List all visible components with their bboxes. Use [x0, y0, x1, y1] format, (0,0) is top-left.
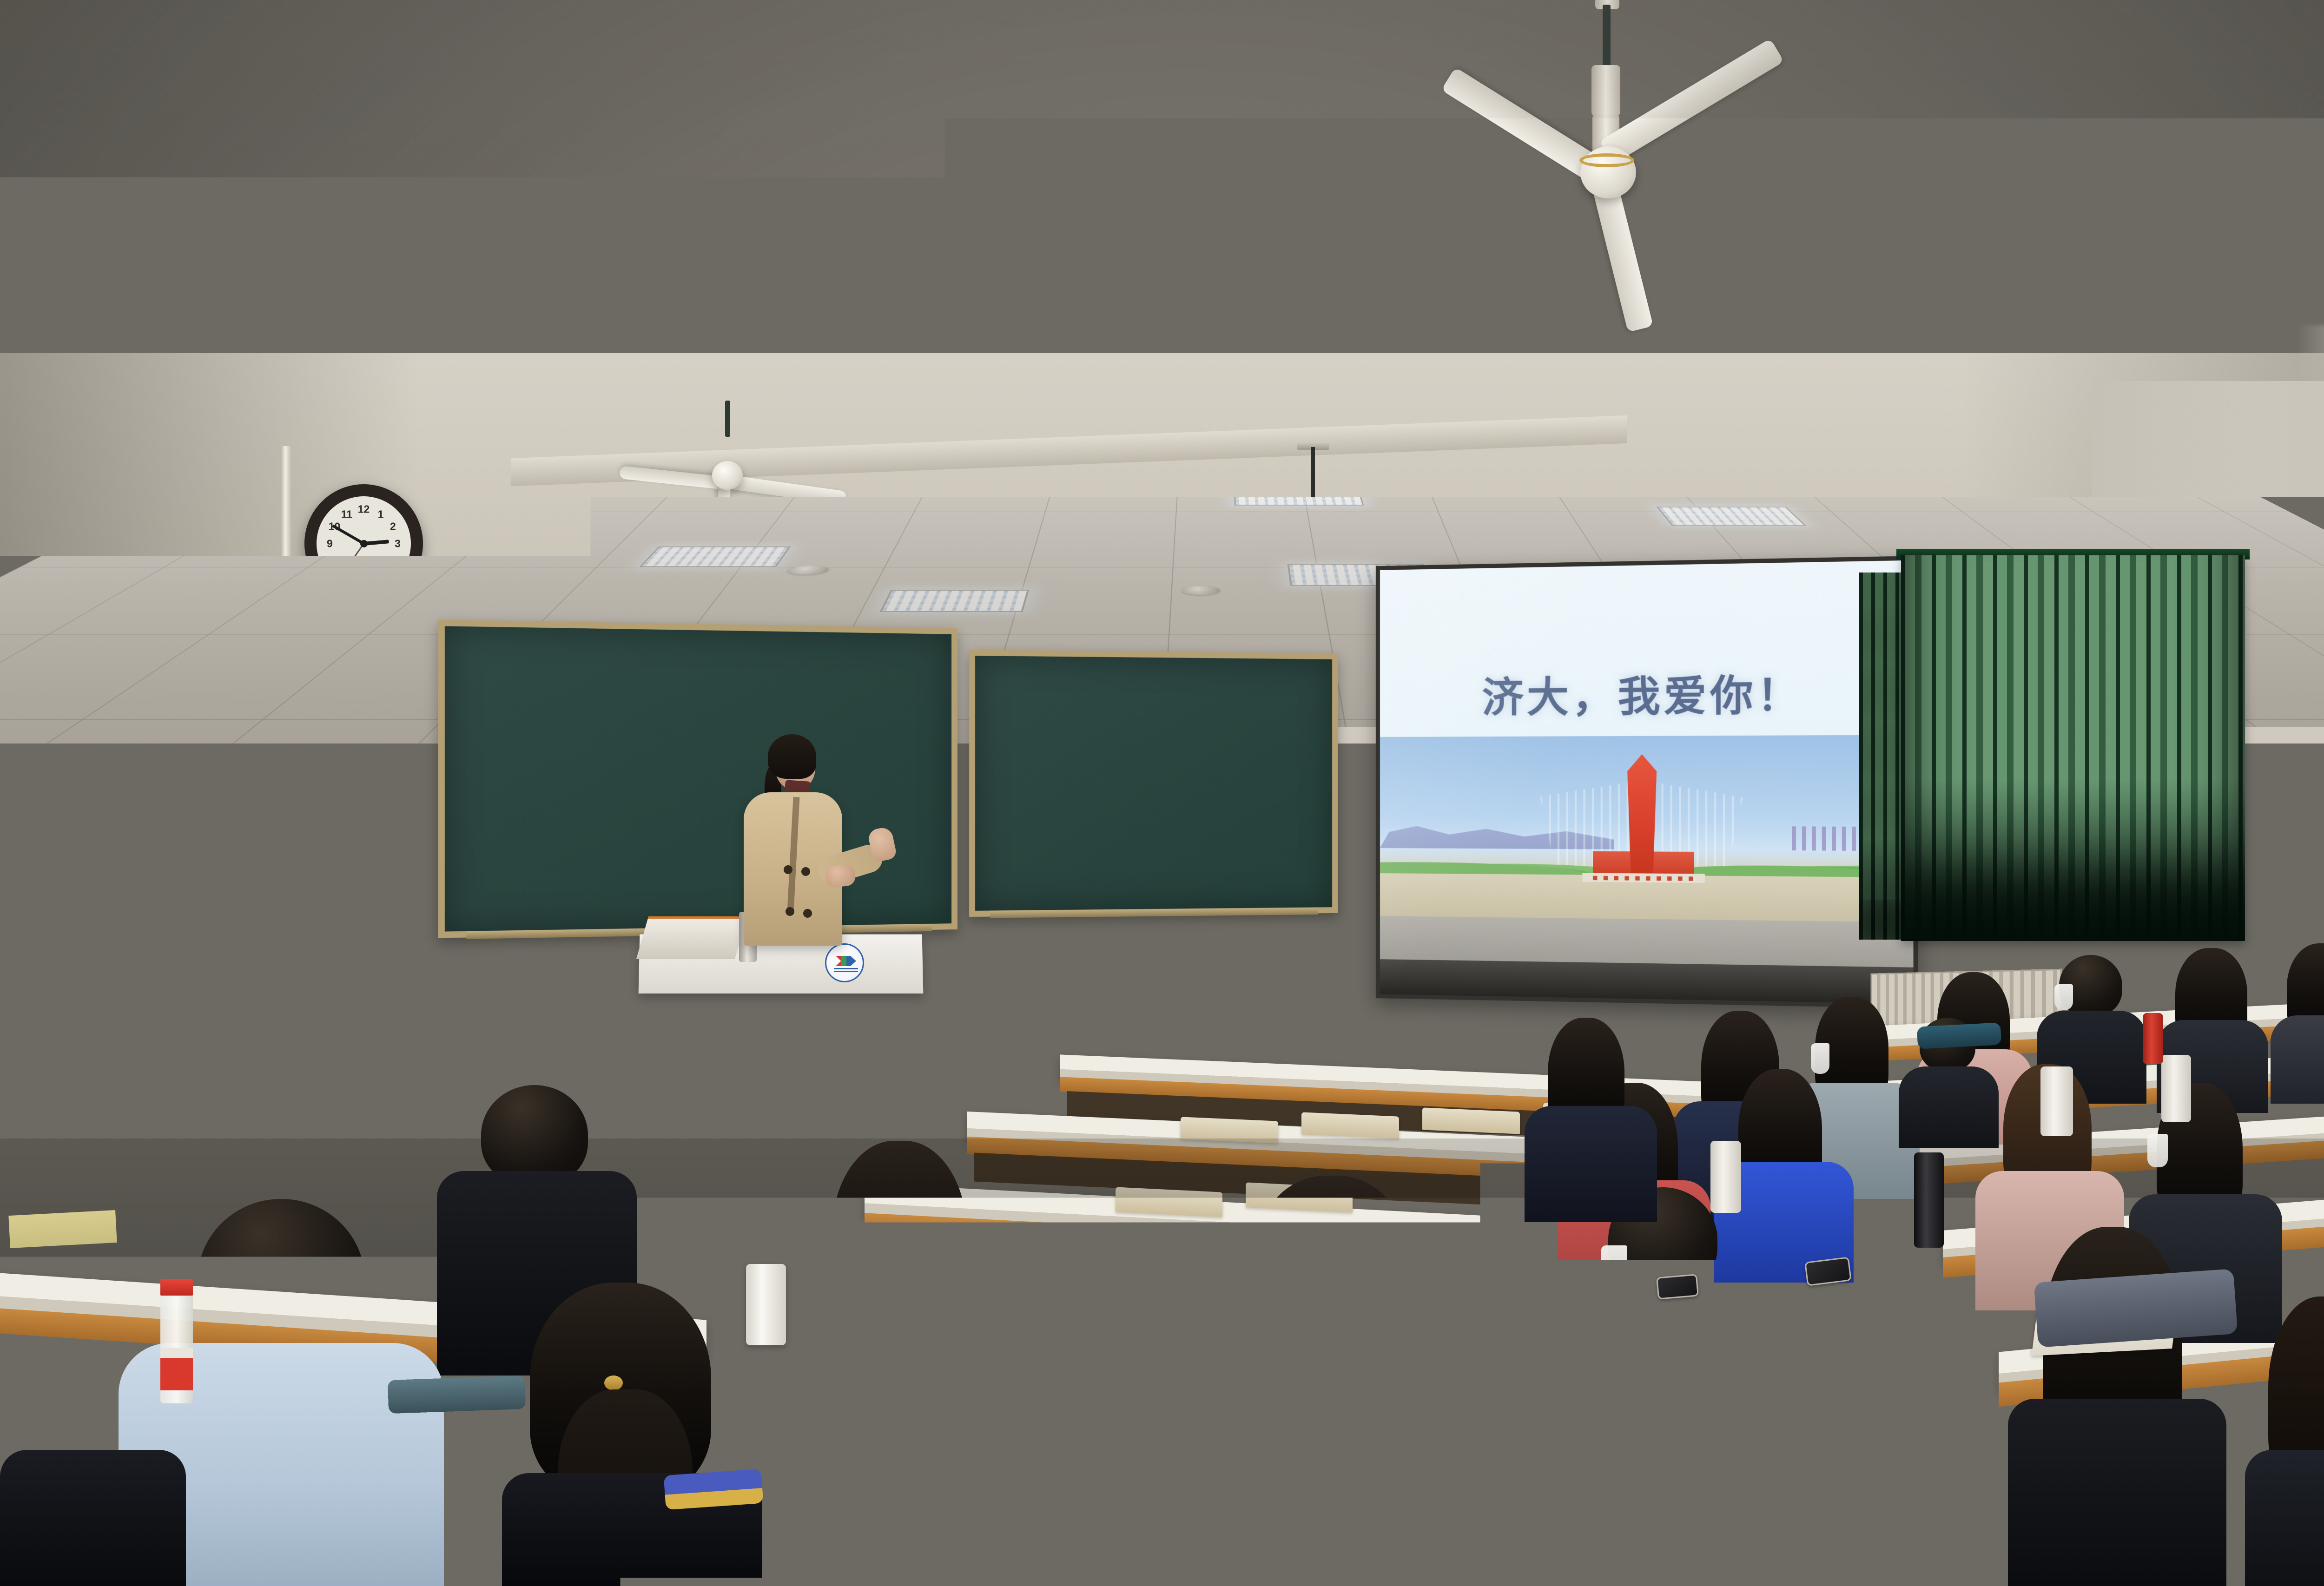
clock-numeral: 4 — [390, 554, 396, 567]
wall-clock: 12 1 2 3 4 5 6 7 8 9 10 11 — [304, 484, 423, 603]
right-chalkboard — [969, 650, 1338, 917]
white-thermos-flask — [2161, 1055, 2191, 1122]
clock-numeral: 8 — [331, 554, 337, 567]
slide-title-text: 济大，我爱你！ — [1380, 660, 1914, 724]
fan-gold-band — [1579, 153, 1634, 167]
photo-plinth-text — [1593, 876, 1694, 881]
presentation-slide: 济大，我爱你！ — [1380, 560, 1914, 976]
student-torso — [734, 1464, 1041, 1586]
fan-rod-sleeve — [1591, 65, 1620, 116]
notice-text-line — [80, 736, 170, 738]
student-torso — [2245, 1450, 2324, 1586]
grey-jacket-on-desk — [2034, 1269, 2238, 1348]
wooden-chair-slat — [621, 1115, 648, 1125]
face-mask-icon — [334, 1276, 366, 1341]
podium-laptop[interactable] — [636, 916, 747, 959]
fan-down-rod-secondary — [725, 401, 730, 437]
wooden-chair-slat — [621, 1085, 648, 1095]
bottle-cap-icon — [160, 1279, 193, 1296]
photo-red-monument — [1627, 754, 1657, 875]
wall-pipe — [281, 446, 291, 1190]
fan-blade — [1599, 39, 1784, 165]
coat-button — [786, 907, 794, 916]
notice-text-line — [80, 725, 165, 727]
notice-footer-graphic — [92, 796, 161, 808]
bench-seat-back — [1116, 1187, 1222, 1217]
white-thermos-flask — [1710, 1141, 1741, 1213]
pencil-case-teal — [388, 1375, 526, 1414]
clock-minute-hand — [331, 524, 364, 545]
window-curtain[interactable] — [1901, 555, 2245, 941]
notice-text-line — [80, 680, 166, 683]
white-paper-sheet — [8, 1210, 117, 1248]
wall-utility-box — [203, 704, 258, 756]
wall-notice-poster: 教室管理规定 — [71, 658, 182, 816]
lecturer-hair — [768, 734, 816, 779]
hair-tie-icon — [1335, 1276, 1352, 1290]
microphone-rod — [1311, 447, 1315, 530]
smartphone[interactable] — [1656, 1274, 1699, 1299]
projection-screen[interactable]: 济大，我爱你！ — [1376, 556, 1918, 1008]
student-puffer-jacket — [1190, 1345, 1487, 1586]
clock-face: 12 1 2 3 4 5 6 7 8 9 10 11 — [317, 496, 411, 591]
clock-numeral: 5 — [378, 566, 384, 579]
notice-text-line — [80, 714, 123, 716]
slide-campus-photo — [1380, 735, 1914, 922]
bench-seat-back — [1301, 1112, 1399, 1138]
puffer-seam — [1190, 1450, 1487, 1452]
university-crest-icon — [825, 943, 864, 982]
student-hair — [1255, 1176, 1408, 1348]
bottle-label — [160, 1348, 193, 1390]
white-tote-bag — [1794, 1338, 1929, 1415]
left-chalkboard — [438, 619, 957, 938]
clock-numeral: 12 — [358, 503, 370, 516]
wall-socket — [1162, 958, 1191, 994]
notice-title: 教室管理规定 — [78, 666, 175, 676]
notice-text-line — [80, 730, 134, 733]
coat-button — [803, 909, 812, 918]
notice-text-line — [80, 719, 168, 722]
white-thermos-flask — [746, 1264, 786, 1345]
notice-text-line — [80, 708, 157, 711]
coat-button — [784, 865, 792, 874]
notice-text-line — [80, 742, 161, 744]
fan-down-rod — [1603, 5, 1611, 70]
student-torso — [1525, 1106, 1657, 1222]
hair-tie-icon — [604, 1375, 623, 1390]
pencil-case-blue-gold — [664, 1469, 764, 1510]
clock-numeral: 3 — [395, 537, 401, 550]
pencil-case-navy-right — [1917, 1022, 2001, 1049]
classroom-scene: 12 1 2 3 4 5 6 7 8 9 10 11 教室管理规定 — [0, 0, 2324, 1586]
notice-text-line — [80, 697, 169, 699]
podium-control-panel[interactable] — [761, 1001, 914, 1155]
fan-blade — [1591, 177, 1653, 332]
student-torso — [2008, 1399, 2226, 1586]
student-torso — [2271, 1015, 2324, 1104]
coat-button — [801, 867, 810, 876]
student-torso — [0, 1450, 186, 1586]
clock-numeral: 6 — [361, 571, 367, 584]
bench-seat-back — [1181, 1117, 1278, 1143]
face-mask-icon — [1811, 1043, 1829, 1074]
red-thermos-flask — [2143, 1013, 2163, 1064]
clock-numeral: 9 — [327, 537, 333, 550]
student-head — [1655, 1501, 1808, 1586]
student-torso — [1899, 1066, 1999, 1148]
clock-center-cap — [360, 540, 368, 547]
face-mask-icon — [2147, 1134, 2168, 1167]
podium-small-switch[interactable] — [681, 1028, 694, 1052]
face-mask-icon — [2054, 984, 2073, 1010]
smartphone[interactable] — [1111, 1370, 1186, 1417]
notice-text-line — [80, 703, 173, 705]
black-thermos-flask — [1914, 1152, 1944, 1248]
clock-numeral: 1 — [378, 508, 384, 520]
student-head — [786, 1299, 985, 1485]
clock-numeral: 11 — [341, 508, 352, 520]
notice-text-line — [80, 691, 141, 694]
notice-text-line — [80, 686, 172, 688]
clock-numeral: 2 — [390, 520, 396, 533]
wall-outlet — [1086, 1013, 1104, 1032]
projection-screen-bottom-bar — [1380, 959, 1914, 1004]
student-head — [481, 1085, 588, 1185]
white-thermos-flask — [2040, 1066, 2073, 1136]
fan-motor-housing-secondary — [712, 461, 743, 490]
